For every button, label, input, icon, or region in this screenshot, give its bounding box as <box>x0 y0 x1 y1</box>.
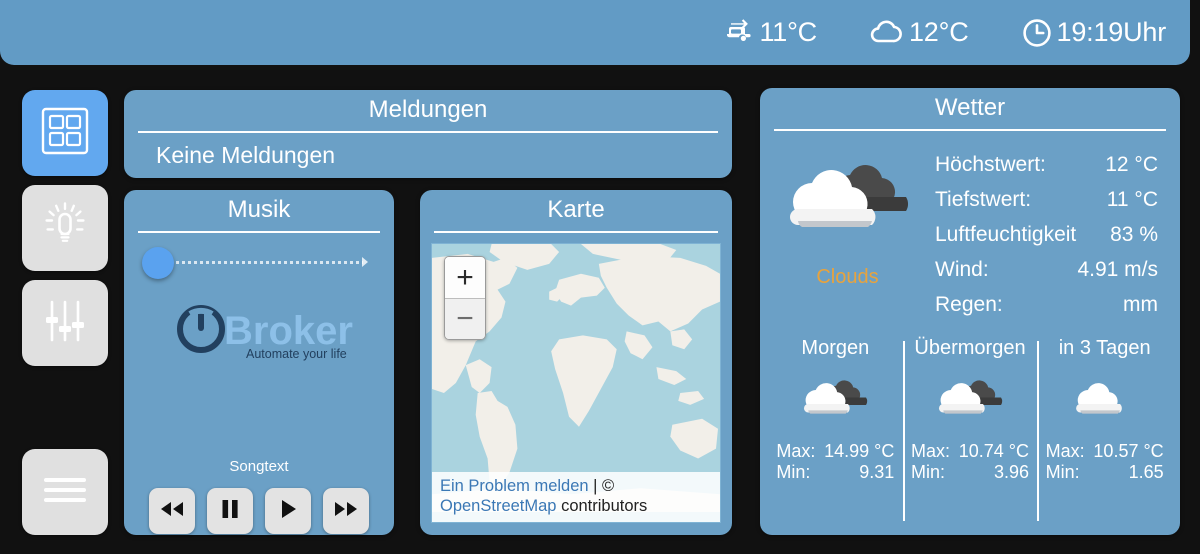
sliders-icon <box>38 294 92 353</box>
forecast-min: Min: 1.65 <box>1046 462 1164 483</box>
forecast-max-value: 10.57 °C <box>1093 441 1163 462</box>
map-viewport[interactable]: + − Ein Problem melden | © OpenStreetMap… <box>431 243 721 523</box>
weather-row-label: Tiefstwert: <box>935 188 1031 212</box>
notifications-card: Meldungen Keine Meldungen <box>124 90 732 178</box>
weather-row: Höchstwert: 12 °C <box>935 153 1158 177</box>
weather-current: Clouds Höchstwert: 12 °C Tiefstwert: 11 … <box>760 131 1180 321</box>
openstreetmap-link[interactable]: OpenStreetMap <box>440 497 556 515</box>
forecast-max-value: 10.74 °C <box>959 441 1029 462</box>
cloud-icon <box>869 19 905 47</box>
weather-row-label: Wind: <box>935 258 989 282</box>
sidebar-item-lights[interactable] <box>22 185 108 271</box>
hamburger-menu-icon <box>39 470 91 515</box>
scattered-clouds-icon <box>1069 374 1141 425</box>
top-status-bar: 11°C 12°C 19:19Uhr <box>0 0 1190 65</box>
forecast-min-value: 1.65 <box>1129 462 1164 483</box>
weather-forecast: Morgen Max: 14.99 °C <box>760 323 1180 539</box>
notifications-title: Meldungen <box>124 90 732 131</box>
iobroker-logo: Broker Automate your life <box>174 301 364 363</box>
status-indoor-temperature: 11°C <box>721 17 817 48</box>
slider-arrow-icon <box>362 257 368 267</box>
forecast-max: Max: 10.74 °C <box>911 441 1029 462</box>
weather-row-value: 83 % <box>1110 223 1158 247</box>
weather-row: Wind: 4.91 m/s <box>935 258 1158 282</box>
music-title: Musik <box>124 190 394 231</box>
forecast-values: Max: 10.57 °C Min: 1.65 <box>1046 441 1164 483</box>
sidebar <box>22 90 108 535</box>
map-zoom-out-button[interactable]: − <box>445 298 485 339</box>
map-zoom-controls: + − <box>444 256 486 340</box>
songtext-label: Songtext <box>124 458 394 475</box>
broken-clouds-icon <box>799 374 871 425</box>
outdoor-temperature-value: 12°C <box>909 17 969 48</box>
report-problem-link[interactable]: Ein Problem melden <box>440 477 589 495</box>
forecast-max: Max: 10.57 °C <box>1046 441 1164 462</box>
weather-row: Tiefstwert: 11 °C <box>935 188 1158 212</box>
clock-value: 19:19Uhr <box>1057 17 1166 48</box>
broken-clouds-icon <box>934 374 1006 425</box>
music-slider-knob[interactable] <box>142 247 174 279</box>
forecast-day: Morgen Max: 14.99 °C <box>768 337 903 525</box>
forecast-day-label: Übermorgen <box>914 337 1025 360</box>
forecast-max-value: 14.99 °C <box>824 441 894 462</box>
forecast-max: Max: 14.99 °C <box>776 441 894 462</box>
forecast-day-label: in 3 Tagen <box>1059 337 1151 360</box>
music-controls <box>124 488 394 534</box>
weather-row-value: mm <box>1123 293 1158 317</box>
light-bulb-icon <box>37 198 93 259</box>
weather-card: Wetter Clouds Höchstwert: <box>760 88 1180 535</box>
broken-clouds-icon <box>782 153 914 244</box>
forecast-min-value: 3.96 <box>994 462 1029 483</box>
clock-icon <box>1021 17 1053 49</box>
pause-button[interactable] <box>207 488 253 534</box>
attribution-separator: | © <box>589 477 615 495</box>
forecast-min: Min: 3.96 <box>911 462 1029 483</box>
weather-row-value: 12 °C <box>1105 153 1158 177</box>
weather-icon-column: Clouds <box>760 141 935 321</box>
forecast-day: Übermorgen Max: 10.74 °C <box>903 337 1038 525</box>
forecast-min-label: Min: <box>1046 462 1080 483</box>
forecast-max-label: Max: <box>911 441 950 462</box>
rewind-button[interactable] <box>149 488 195 534</box>
forecast-day-label: Morgen <box>801 337 869 360</box>
weather-detail-rows: Höchstwert: 12 °C Tiefstwert: 11 °C Luft… <box>935 141 1180 321</box>
forecast-values: Max: 14.99 °C Min: 9.31 <box>776 441 894 483</box>
weather-title: Wetter <box>760 88 1180 129</box>
notifications-body: Keine Meldungen <box>124 133 732 178</box>
divider <box>434 231 718 233</box>
music-body: Broker Automate your life Songtext <box>124 233 394 535</box>
rewind-icon <box>158 499 186 524</box>
forecast-max-label: Max: <box>1046 441 1085 462</box>
weather-row: Regen: mm <box>935 293 1158 317</box>
fast-forward-icon <box>332 499 360 524</box>
map-attribution: Ein Problem melden | © OpenStreetMap con… <box>432 472 720 522</box>
indoor-temperature-value: 11°C <box>759 17 817 48</box>
forecast-min-label: Min: <box>776 462 810 483</box>
attribution-suffix: contributors <box>556 497 647 515</box>
weather-row-label: Regen: <box>935 293 1003 317</box>
pause-icon <box>220 498 240 525</box>
forecast-max-label: Max: <box>776 441 815 462</box>
forecast-values: Max: 10.74 °C Min: 3.96 <box>911 441 1029 483</box>
sidebar-item-controls[interactable] <box>22 280 108 366</box>
forecast-day: in 3 Tagen Max: 10.57 °C Min: 1 <box>1037 337 1172 525</box>
caravan-icon <box>721 18 755 48</box>
weather-row-value: 4.91 m/s <box>1077 258 1158 282</box>
weather-row-label: Luftfeuchtigkeit <box>935 223 1076 247</box>
music-progress-slider[interactable] <box>158 261 363 264</box>
forecast-min-label: Min: <box>911 462 945 483</box>
play-icon <box>277 498 299 525</box>
weather-row-label: Höchstwert: <box>935 153 1046 177</box>
svg-text:Automate your life: Automate your life <box>246 347 347 361</box>
sidebar-item-dashboard[interactable] <box>22 90 108 176</box>
music-card: Musik Broker Automate your life Songtext <box>124 190 394 535</box>
forward-button[interactable] <box>323 488 369 534</box>
weather-condition: Clouds <box>816 266 878 289</box>
map-title: Karte <box>420 190 732 231</box>
dashboard-grid-icon <box>38 104 92 163</box>
weather-row: Luftfeuchtigkeit 83 % <box>935 223 1158 247</box>
play-button[interactable] <box>265 488 311 534</box>
dashboard-root: 11°C 12°C 19:19Uhr <box>0 0 1200 554</box>
status-outdoor-temperature: 12°C <box>869 17 969 48</box>
status-clock: 19:19Uhr <box>1021 17 1166 49</box>
weather-row-value: 11 °C <box>1107 188 1158 212</box>
map-card: Karte <box>420 190 732 535</box>
map-zoom-in-button[interactable]: + <box>445 257 485 298</box>
forecast-min-value: 9.31 <box>859 462 894 483</box>
forecast-min: Min: 9.31 <box>776 462 894 483</box>
menu-button[interactable] <box>22 449 108 535</box>
